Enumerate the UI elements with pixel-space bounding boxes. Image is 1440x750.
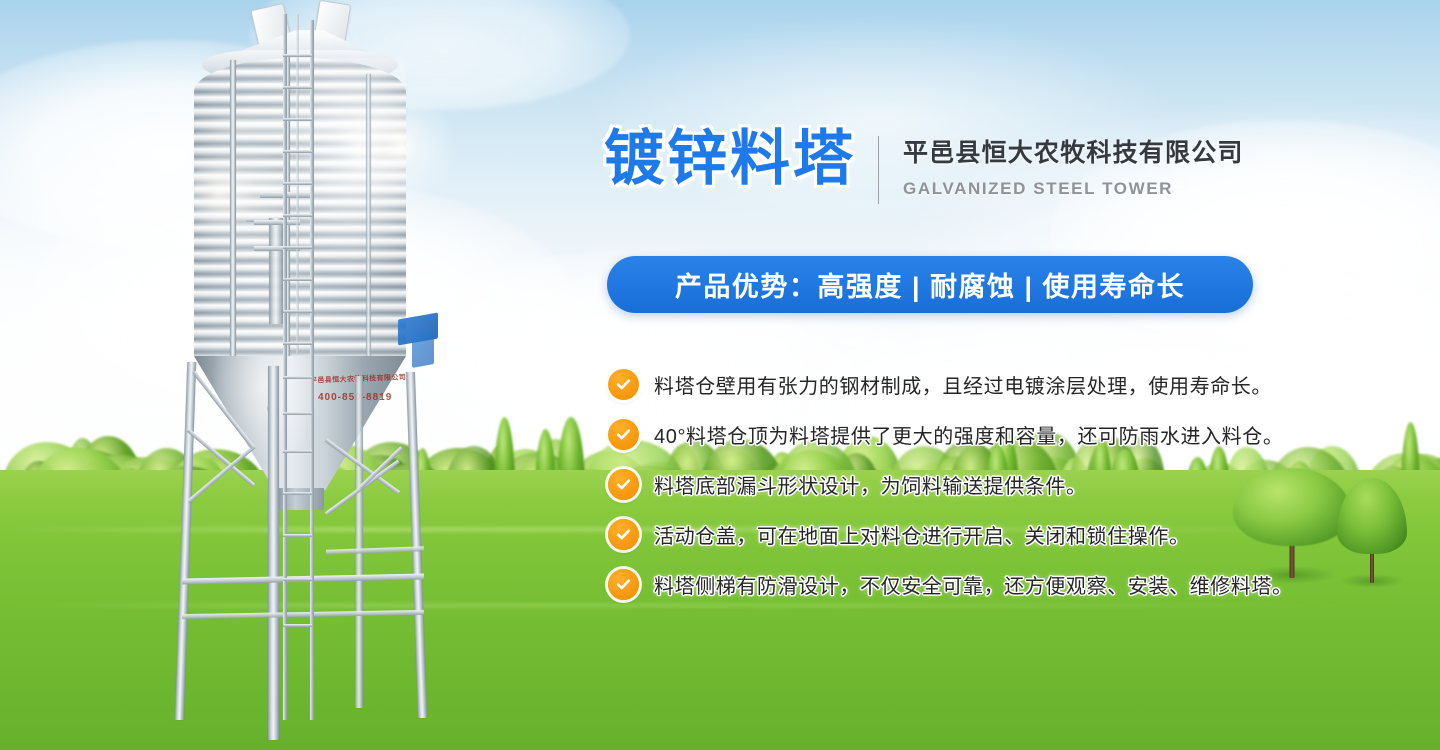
feature-list: 料塔仓壁用有张力的钢材制成，且经过电镀涂层处理，使用寿命长。40°料塔仓顶为料塔… bbox=[608, 359, 1308, 609]
page-title: 镀锌料塔 bbox=[604, 122, 856, 196]
feature-item-label: 活动仓盖，可在地面上对料仓进行开启、关闭和锁住操作。 bbox=[654, 520, 1190, 549]
title-divider bbox=[878, 136, 879, 204]
feature-item-label: 料塔仓壁用有张力的钢材制成，且经过电镀涂层处理，使用寿命长。 bbox=[654, 370, 1272, 399]
feature-item-label: 40°料塔仓顶为料塔提供了更大的强度和容量，还可防雨水进入料仓。 bbox=[654, 420, 1283, 449]
feature-item: 料塔侧梯有防滑设计，不仅安全可靠，还方便观察、安装、维修料塔。 bbox=[608, 559, 1308, 609]
feature-item: 40°料塔仓顶为料塔提供了更大的强度和容量，还可防雨水进入料仓。 bbox=[608, 409, 1308, 459]
check-circle-icon bbox=[608, 469, 639, 500]
feature-item-label: 料塔底部漏斗形状设计，为饲料输送提供条件。 bbox=[654, 470, 1087, 499]
feature-item: 活动仓盖，可在地面上对料仓进行开启、关闭和锁住操作。 bbox=[608, 509, 1308, 559]
headline-row: 镀锌料塔 平邑县恒大农牧科技有限公司 GALVANIZED STEEL TOWE… bbox=[604, 122, 1244, 204]
check-circle-icon bbox=[608, 369, 639, 400]
check-circle-icon bbox=[608, 569, 639, 600]
company-name: 平邑县恒大农牧科技有限公司 bbox=[903, 136, 1244, 170]
check-circle-icon bbox=[608, 519, 639, 550]
advantage-pill: 产品优势：高强度 | 耐腐蚀 | 使用寿命长 bbox=[607, 256, 1253, 313]
feature-item: 料塔仓壁用有张力的钢材制成，且经过电镀涂层处理，使用寿命长。 bbox=[608, 359, 1308, 409]
advantage-pill-label: 产品优势：高强度 | 耐腐蚀 | 使用寿命长 bbox=[675, 265, 1185, 304]
feature-item-label: 料塔侧梯有防滑设计，不仅安全可靠，还方便观察、安装、维修料塔。 bbox=[654, 570, 1293, 599]
banner-content: 镀锌料塔 平邑县恒大农牧科技有限公司 GALVANIZED STEEL TOWE… bbox=[0, 0, 1440, 750]
feature-item: 料塔底部漏斗形状设计，为饲料输送提供条件。 bbox=[608, 459, 1308, 509]
english-subtitle: GALVANIZED STEEL TOWER bbox=[903, 179, 1244, 199]
promo-banner: 平邑县恒大农牧科技有限公司 400-850-8819 bbox=[0, 0, 1440, 750]
company-block: 平邑县恒大农牧科技有限公司 GALVANIZED STEEL TOWER bbox=[903, 136, 1244, 199]
check-circle-icon bbox=[608, 419, 639, 450]
